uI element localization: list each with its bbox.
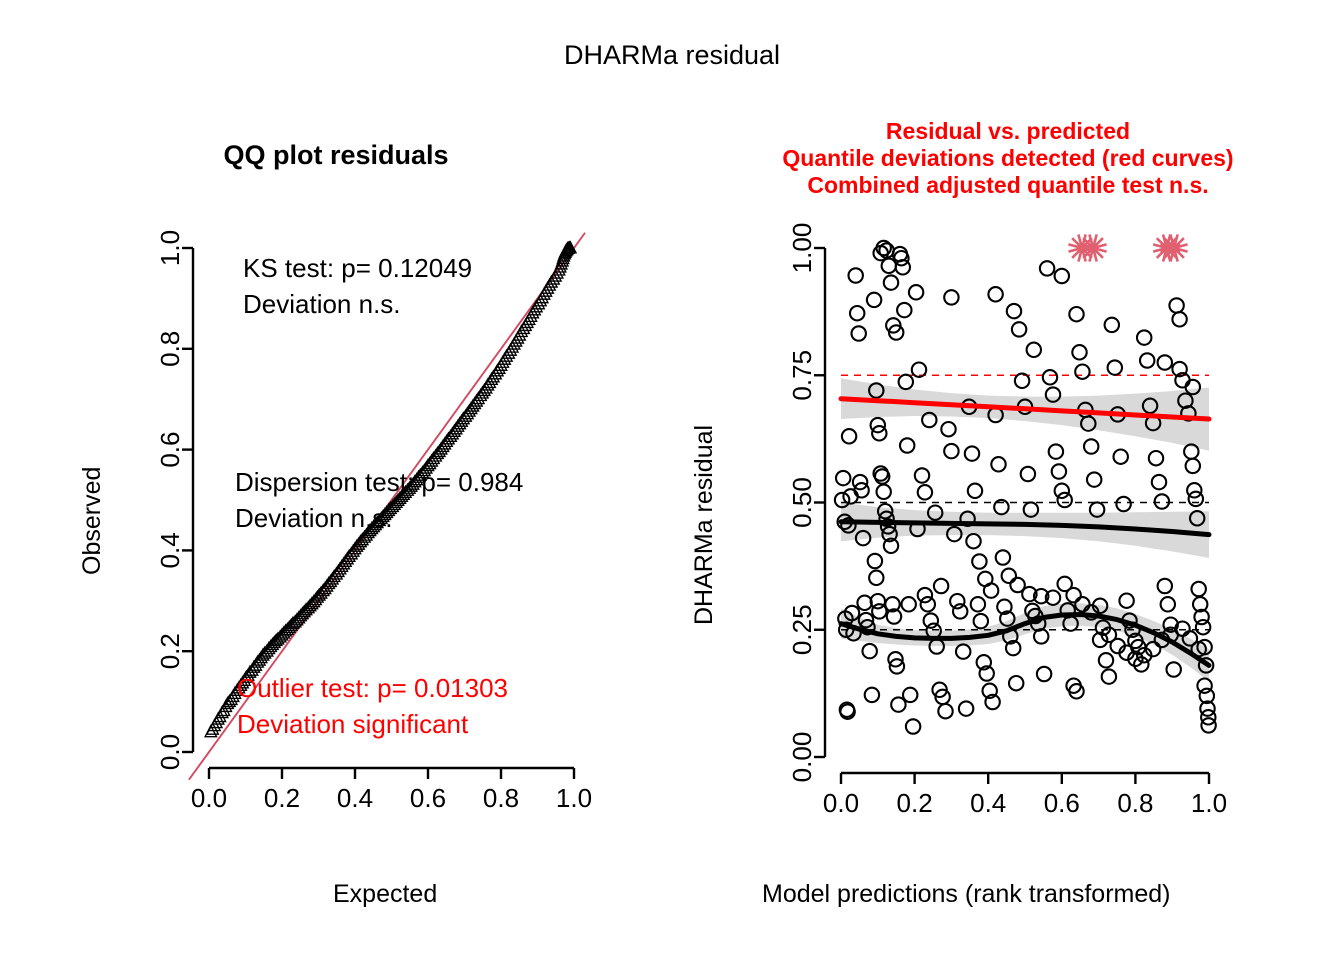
- residual-point: [1140, 353, 1154, 367]
- residual-point: [843, 489, 857, 503]
- residual-point: [996, 550, 1010, 564]
- residual-point: [1043, 370, 1057, 384]
- residual-point: [1058, 493, 1072, 507]
- residual-point: [1021, 467, 1035, 481]
- residual-point: [968, 484, 982, 498]
- residual-point: [902, 597, 916, 611]
- residual-point: [852, 326, 866, 340]
- residual-point: [959, 701, 973, 715]
- residual-point: [1158, 579, 1172, 593]
- residual-point: [918, 485, 932, 499]
- x-axis-tick-label: 0.2: [264, 783, 300, 813]
- residual-point: [836, 471, 850, 485]
- residual-point: [849, 268, 863, 282]
- residual-point: [953, 604, 967, 618]
- residual-point: [906, 719, 920, 733]
- residual-point: [941, 422, 955, 436]
- residual-point: [1027, 343, 1041, 357]
- x-axis-tick-label: 0.8: [483, 783, 519, 813]
- residual-point: [1099, 653, 1113, 667]
- residual-point: [899, 375, 913, 389]
- y-axis-tick-label: 0.50: [787, 477, 817, 528]
- residual-point: [1152, 475, 1166, 489]
- y-axis-tick-label: 0.00: [787, 732, 817, 783]
- residual-point: [882, 259, 896, 273]
- x-axis-tick-label: 0.8: [1117, 788, 1153, 818]
- residual-point: [1072, 345, 1086, 359]
- residual-point: [934, 579, 948, 593]
- residual-plot-title-line-2: Quantile deviations detected (red curves…: [672, 145, 1344, 172]
- residual-point: [1167, 662, 1181, 676]
- residual-point: [965, 446, 979, 460]
- qq-x-axis-label: Expected: [333, 880, 437, 909]
- y-axis-tick-label: 0.75: [787, 350, 817, 401]
- residual-point: [956, 644, 970, 658]
- residual-point: [944, 290, 958, 304]
- residual-point: [1040, 261, 1054, 275]
- residual-point: [865, 688, 879, 702]
- y-axis-tick-label: 0.25: [787, 604, 817, 655]
- residual-point: [909, 285, 923, 299]
- residual-point: [850, 306, 864, 320]
- residual-point: [1105, 318, 1119, 332]
- residual-point: [1052, 464, 1066, 478]
- residual-point: [1116, 497, 1130, 511]
- qq-plot-title: QQ plot residuals: [0, 140, 672, 171]
- residual-point: [1002, 569, 1016, 583]
- x-axis-tick-label: 0.0: [823, 788, 859, 818]
- residual-point: [915, 468, 929, 482]
- x-axis-tick-label: 0.4: [970, 788, 1006, 818]
- residual-point: [1075, 365, 1089, 379]
- y-axis-tick-label: 0.6: [155, 432, 185, 468]
- residual-point: [854, 483, 868, 497]
- y-axis-tick-label: 0.0: [155, 734, 185, 770]
- ks-test-line-1: KS test: p= 0.12049: [243, 250, 472, 286]
- x-axis-tick-label: 0.2: [897, 788, 933, 818]
- residual-point: [991, 457, 1005, 471]
- x-axis-tick-label: 0.0: [191, 783, 227, 813]
- ks-test-annotation: KS test: p= 0.12049 Deviation n.s.: [243, 250, 472, 322]
- residual-point: [1119, 594, 1133, 608]
- residual-point: [1149, 451, 1163, 465]
- residual-point: [1034, 629, 1048, 643]
- residual-point: [897, 303, 911, 317]
- y-axis-tick-label: 0.8: [155, 331, 185, 367]
- residual-point: [884, 275, 898, 289]
- residual-plot-title-line-3: Combined adjusted quantile test n.s.: [672, 172, 1344, 199]
- residual-plot-title: Residual vs. predicted Quantile deviatio…: [672, 118, 1344, 199]
- residual-point: [903, 688, 917, 702]
- x-axis-tick-label: 1.0: [1191, 788, 1227, 818]
- residual-point: [988, 287, 1002, 301]
- residual-point: [972, 554, 986, 568]
- residual-plot-title-line-1: Residual vs. predicted: [672, 118, 1344, 145]
- residual-point: [842, 429, 856, 443]
- residual-point: [1158, 355, 1172, 369]
- y-axis-tick-label: 1.0: [155, 230, 185, 266]
- residual-point: [869, 571, 883, 585]
- residual-point: [872, 426, 886, 440]
- dispersion-test-line-1: Dispersion test: p= 0.984: [235, 464, 523, 500]
- residual-point: [1066, 588, 1080, 602]
- plot-region: [835, 234, 1216, 733]
- residual-point: [971, 597, 985, 611]
- residual-point: [1084, 439, 1098, 453]
- residual-point: [872, 604, 886, 618]
- residual-point: [1161, 597, 1175, 611]
- residual-point: [938, 704, 952, 718]
- x-axis-tick-label: 0.6: [1044, 788, 1080, 818]
- residual-point: [1155, 494, 1169, 508]
- data-points: [835, 241, 1216, 734]
- residual-point: [1069, 307, 1083, 321]
- residual-point: [924, 613, 938, 627]
- residual-point: [950, 594, 964, 608]
- residual-point: [1137, 330, 1151, 344]
- residual-point: [966, 534, 980, 548]
- residual-point: [1009, 676, 1023, 690]
- y-axis-tick-label: 0.2: [155, 633, 185, 669]
- residual-point: [896, 260, 910, 274]
- residual-point: [921, 597, 935, 611]
- qq-plot-panel: QQ plot residuals 0.00.20.40.60.81.00.00…: [0, 0, 672, 960]
- y-axis-tick-label: 0.4: [155, 532, 185, 568]
- residual-x-axis-label: Model predictions (rank transformed): [762, 880, 1171, 909]
- residual-point: [1037, 667, 1051, 681]
- y-axis-tick-label: 1.00: [787, 223, 817, 274]
- residual-point: [984, 583, 998, 597]
- ks-test-line-2: Deviation n.s.: [243, 286, 472, 322]
- residual-point: [1186, 459, 1200, 473]
- residual-point: [1012, 322, 1026, 336]
- residual-point: [1055, 484, 1069, 498]
- x-axis-tick-label: 1.0: [556, 783, 592, 813]
- x-axis-tick-label: 0.6: [410, 783, 446, 813]
- residual-point: [863, 644, 877, 658]
- residual-y-axis-label: DHARMa residual: [690, 425, 719, 625]
- residual-point: [1102, 669, 1116, 683]
- outlier-test-line-2: Deviation significant: [237, 706, 508, 742]
- residual-point: [1015, 374, 1029, 388]
- residual-point: [1049, 444, 1063, 458]
- residual-point: [1114, 450, 1128, 464]
- residual-point: [868, 554, 882, 568]
- residual-point: [1087, 472, 1101, 486]
- outlier-test-line-1: Outlier test: p= 0.01303: [237, 670, 508, 706]
- residual-point: [857, 596, 871, 610]
- dharma-residual-figure: DHARMa residual QQ plot residuals 0.00.2…: [0, 0, 1344, 960]
- residual-point: [918, 588, 932, 602]
- residual-point: [1055, 269, 1069, 283]
- residual-vs-predicted-panel: Residual vs. predicted Quantile deviatio…: [672, 0, 1344, 960]
- residual-point: [1007, 304, 1021, 318]
- residual-point: [1196, 620, 1210, 634]
- residual-point: [1197, 679, 1211, 693]
- residual-point: [867, 293, 881, 307]
- residual-point: [974, 614, 988, 628]
- outlier-test-annotation: Outlier test: p= 0.01303 Deviation signi…: [237, 670, 508, 742]
- residual-point: [1108, 360, 1122, 374]
- residual-point: [1169, 298, 1183, 312]
- dispersion-test-annotation: Dispersion test: p= 0.984 Deviation n.s.: [235, 464, 523, 536]
- residual-point: [900, 438, 914, 452]
- residual-point: [1172, 312, 1186, 326]
- qq-y-axis-label: Observed: [78, 467, 107, 575]
- residual-point: [1189, 492, 1203, 506]
- residual-point: [1192, 582, 1206, 596]
- residual-point: [877, 485, 891, 499]
- dispersion-test-line-2: Deviation n.s.: [235, 500, 523, 536]
- residual-point: [944, 444, 958, 458]
- x-axis-tick-label: 0.4: [337, 783, 373, 813]
